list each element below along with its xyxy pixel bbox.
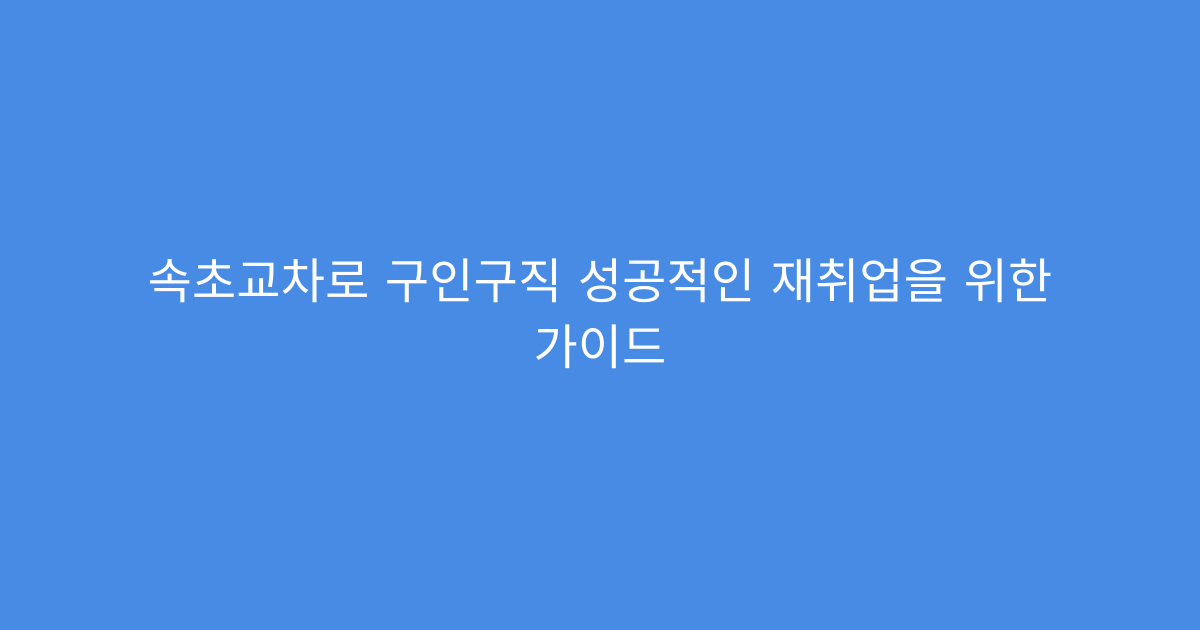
page-title: 속초교차로 구인구직 성공적인 재취업을 위한 가이드 [116, 249, 1084, 381]
title-block: 속초교차로 구인구직 성공적인 재취업을 위한 가이드 [100, 249, 1100, 381]
social-share-card: 속초교차로 구인구직 성공적인 재취업을 위한 가이드 [0, 0, 1200, 630]
